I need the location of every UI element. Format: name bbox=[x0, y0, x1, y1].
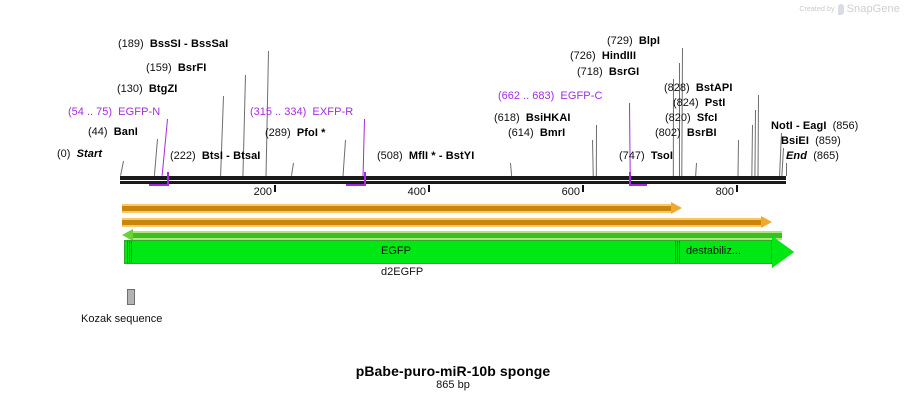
site-position: (44) bbox=[88, 126, 108, 138]
cds-arrowhead bbox=[772, 236, 794, 268]
cds-caption-d2egfp: d2EGFP bbox=[381, 266, 423, 278]
site-label-bsrgi[interactable]: (718) BsrGI bbox=[577, 66, 639, 78]
site-label-bmri[interactable]: (614) BmrI bbox=[508, 127, 565, 139]
ruler-tick bbox=[428, 185, 430, 192]
site-position: (189) bbox=[118, 38, 144, 50]
leader-line bbox=[695, 163, 697, 176]
site-position: (130) bbox=[117, 83, 143, 95]
site-label-noti-eagi[interactable]: NotI - EagI (856) bbox=[771, 120, 858, 132]
site-label-end[interactable]: End (865) bbox=[786, 150, 839, 162]
site-label-sfci[interactable]: (820) SfcI bbox=[665, 112, 717, 124]
leader-line bbox=[510, 163, 512, 176]
site-name: NotI - EagI bbox=[771, 120, 827, 132]
site-position: (618) bbox=[494, 112, 520, 124]
site-label-bsrfi[interactable]: (159) BsrFI bbox=[146, 62, 206, 74]
site-name: BsrGI bbox=[609, 66, 639, 78]
sequence-backbone-shadow bbox=[120, 181, 786, 184]
site-position: (856) bbox=[833, 120, 859, 132]
leader-line bbox=[781, 148, 784, 176]
kozak-sequence-marker[interactable] bbox=[127, 289, 135, 305]
site-label-bsrbi[interactable]: (802) BsrBI bbox=[655, 127, 717, 139]
primer-mark-tail-egfp-c bbox=[629, 184, 647, 186]
site-label-btsi-btsai[interactable]: (222) BtsI - BtsaI bbox=[170, 150, 260, 162]
site-name: BanI bbox=[114, 126, 138, 138]
ruler-tick bbox=[736, 185, 738, 192]
site-name: End bbox=[786, 150, 807, 162]
promoter-arrow-1[interactable] bbox=[122, 204, 682, 213]
primer-mark-tail-egfp-n bbox=[149, 184, 167, 186]
site-label-egfp-c[interactable]: (662 .. 683) EGFP-C bbox=[498, 90, 603, 102]
arrow-shaft bbox=[122, 204, 672, 213]
primer-mark-tail-exfp-r bbox=[346, 184, 364, 186]
cds-hatch-mid bbox=[674, 241, 681, 263]
arrow-head bbox=[671, 202, 682, 214]
site-name: BssSI - BssSaI bbox=[150, 38, 228, 50]
ruler-tick bbox=[274, 185, 276, 192]
site-label-bsssi-bsssai[interactable]: (189) BssSI - BssSaI bbox=[118, 38, 228, 50]
site-label-psti[interactable]: (824) PstI bbox=[673, 97, 725, 109]
site-position: (662 .. 683) bbox=[498, 90, 554, 102]
site-name: EGFP-N bbox=[118, 106, 160, 118]
site-label-btgzi[interactable]: (130) BtgZI bbox=[117, 83, 177, 95]
site-label-bsiei[interactable]: BsiEI (859) bbox=[781, 135, 841, 147]
site-position: (718) bbox=[577, 66, 603, 78]
site-position: (508) bbox=[377, 150, 403, 162]
site-name: BstAPI bbox=[696, 82, 733, 94]
site-position: (0) bbox=[57, 148, 70, 160]
site-position: (726) bbox=[570, 50, 596, 62]
leader-line bbox=[737, 140, 739, 176]
leader-line bbox=[291, 163, 294, 176]
promoter-arrow-2[interactable] bbox=[122, 218, 772, 227]
site-name: HindIII bbox=[602, 50, 636, 62]
site-label-pfoi-[interactable]: (289) PfoI * bbox=[265, 127, 326, 139]
site-label-tsoi[interactable]: (747) TsoI bbox=[619, 150, 673, 162]
cds-label-destabilized: destabiliz... bbox=[686, 245, 741, 257]
cds-hatch-left bbox=[126, 241, 133, 263]
site-label-blpi[interactable]: (729) BlpI bbox=[607, 35, 660, 47]
primer-mark-exfp-r[interactable] bbox=[364, 172, 366, 186]
primer-mark-egfp-n[interactable] bbox=[167, 172, 169, 186]
site-position: (828) bbox=[664, 82, 690, 94]
site-label-exfp-r[interactable]: (315 .. 334) EXFP-R bbox=[250, 106, 353, 118]
site-label-hindiii[interactable]: (726) HindIII bbox=[570, 50, 636, 62]
site-position: (614) bbox=[508, 127, 534, 139]
arrow-shaft bbox=[122, 218, 762, 227]
leader-line bbox=[120, 161, 124, 176]
leader-line bbox=[343, 140, 346, 176]
leader-line bbox=[363, 119, 365, 176]
site-label-bstapi[interactable]: (828) BstAPI bbox=[664, 82, 732, 94]
arrow-shaft bbox=[132, 231, 782, 240]
site-name: BtgZI bbox=[149, 83, 178, 95]
site-position: (729) bbox=[607, 35, 633, 47]
site-position: (820) bbox=[665, 112, 691, 124]
site-position: (747) bbox=[619, 150, 645, 162]
sequence-backbone bbox=[120, 176, 786, 180]
site-name: BsiHKAI bbox=[526, 112, 571, 124]
leader-line bbox=[754, 110, 756, 176]
site-position: (802) bbox=[655, 127, 681, 139]
kozak-sequence-label: Kozak sequence bbox=[81, 313, 162, 325]
site-name: EXFP-R bbox=[312, 106, 353, 118]
page-title: pBabe-puro-miR-10b sponge bbox=[0, 363, 906, 379]
site-position: (859) bbox=[815, 135, 841, 147]
reverse-feature-arrow[interactable] bbox=[122, 231, 782, 240]
site-name: BlpI bbox=[639, 35, 660, 47]
arrow-head bbox=[761, 216, 772, 228]
site-label-bani[interactable]: (44) BanI bbox=[88, 126, 138, 138]
site-name: BtsI - BtsaI bbox=[202, 150, 261, 162]
site-position: (54 .. 75) bbox=[68, 106, 112, 118]
sequence-length: 865 bp bbox=[0, 379, 906, 391]
site-position: (315 .. 334) bbox=[250, 106, 306, 118]
leader-line bbox=[154, 139, 158, 176]
leader-line bbox=[786, 163, 787, 176]
site-position: (289) bbox=[265, 127, 291, 139]
leader-line bbox=[751, 125, 753, 176]
leader-line bbox=[220, 96, 224, 176]
ruler-tick-label: 400 bbox=[408, 186, 428, 198]
leader-line bbox=[596, 125, 597, 176]
ruler-tick-label: 600 bbox=[562, 186, 582, 198]
site-name: SfcI bbox=[697, 112, 718, 124]
site-label-egfp-n[interactable]: (54 .. 75) EGFP-N bbox=[68, 106, 160, 118]
site-name: EGFP-C bbox=[560, 90, 602, 102]
ruler-tick-label: 200 bbox=[254, 186, 274, 198]
ruler-tick bbox=[582, 185, 584, 192]
plasmid-linear-map: (0) Start(44) BanI(54 .. 75) EGFP-N(130)… bbox=[0, 0, 906, 402]
site-position: (824) bbox=[673, 97, 699, 109]
site-name: BsrFI bbox=[178, 62, 207, 74]
leader-line bbox=[758, 95, 759, 176]
site-name: TsoI bbox=[651, 150, 673, 162]
site-name: BsiEI bbox=[781, 135, 809, 147]
ruler-tick-label: 800 bbox=[716, 186, 736, 198]
site-name: PfoI * bbox=[297, 127, 326, 139]
site-name: BsrBI bbox=[687, 127, 717, 139]
site-name: MflI * - BstYI bbox=[409, 150, 475, 162]
site-label-bsihkai[interactable]: (618) BsiHKAI bbox=[494, 112, 571, 124]
leader-line bbox=[592, 140, 594, 176]
site-name: Start bbox=[77, 148, 103, 160]
cds-label-egfp: EGFP bbox=[381, 245, 411, 257]
site-position: (159) bbox=[146, 62, 172, 74]
leader-line bbox=[629, 103, 631, 176]
site-label-mfli-bstyi[interactable]: (508) MflI * - BstYI bbox=[377, 150, 474, 162]
site-name: PstI bbox=[705, 97, 726, 109]
site-name: BmrI bbox=[540, 127, 565, 139]
site-label-start[interactable]: (0) Start bbox=[57, 148, 102, 160]
site-position: (222) bbox=[170, 150, 196, 162]
site-position: (865) bbox=[813, 150, 839, 162]
leader-line bbox=[162, 119, 168, 176]
